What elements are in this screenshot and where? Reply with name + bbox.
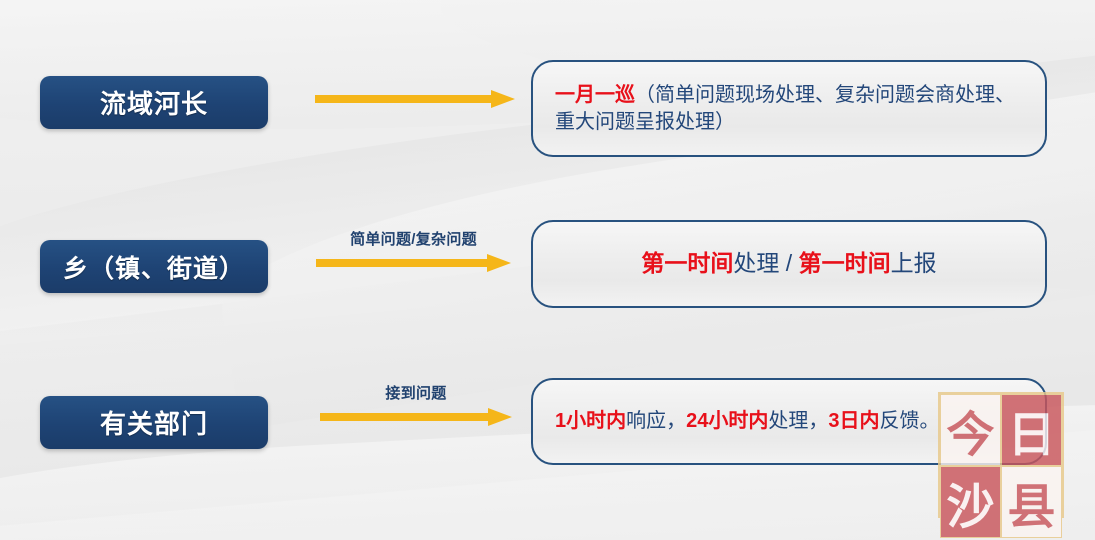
- message-normal: 上报: [891, 250, 937, 276]
- arrow-label-2: 简单问题/复杂问题: [316, 228, 511, 249]
- message-highlight: 1小时内: [555, 410, 626, 432]
- message-highlight: 3日内: [828, 410, 879, 432]
- message-normal: 处理，: [768, 410, 828, 432]
- role-pill-township[interactable]: 乡（镇、街道）: [40, 240, 268, 293]
- slide-canvas: 流域河长 一月一巡（简单问题现场处理、复杂问题会商处理、重大问题呈报处理） 乡（…: [0, 0, 1095, 540]
- message-highlight: 一月一巡: [555, 84, 635, 106]
- message-highlight: 第一时间: [799, 250, 891, 276]
- jinri-shaxian-seal: 今 日 沙 县: [938, 392, 1064, 518]
- message-box-2: 第一时间处理 / 第一时间上报: [531, 220, 1047, 308]
- message-box-1: 一月一巡（简单问题现场处理、复杂问题会商处理、重大问题呈报处理）: [531, 60, 1047, 157]
- role-pill-watershed-chief[interactable]: 流域河长: [40, 76, 268, 129]
- message-normal: 处理 /: [733, 250, 798, 276]
- seal-cell-2: 日: [1001, 394, 1062, 466]
- role-pill-label: 乡（镇、街道）: [63, 249, 245, 285]
- right-arrow-icon: [316, 254, 511, 268]
- message-text-2: 第一时间处理 / 第一时间上报: [533, 248, 1045, 279]
- message-normal: 反馈。: [880, 410, 940, 432]
- message-highlight: 第一时间: [641, 250, 733, 276]
- right-arrow-icon: [315, 90, 515, 104]
- seal-cell-4: 县: [1001, 466, 1062, 538]
- seal-cell-1: 今: [940, 394, 1001, 466]
- seal-cell-3: 沙: [940, 466, 1001, 538]
- right-arrow-icon: [320, 408, 512, 422]
- message-normal: 响应，: [626, 410, 686, 432]
- role-pill-label: 有关部门: [100, 404, 208, 441]
- message-text-1: 一月一巡（简单问题现场处理、复杂问题会商处理、重大问题呈报处理）: [533, 82, 1045, 136]
- message-highlight: 24小时内: [686, 410, 768, 432]
- role-pill-label: 流域河长: [100, 84, 208, 121]
- role-pill-department[interactable]: 有关部门: [40, 396, 268, 449]
- arrow-label-3: 接到问题: [320, 382, 512, 403]
